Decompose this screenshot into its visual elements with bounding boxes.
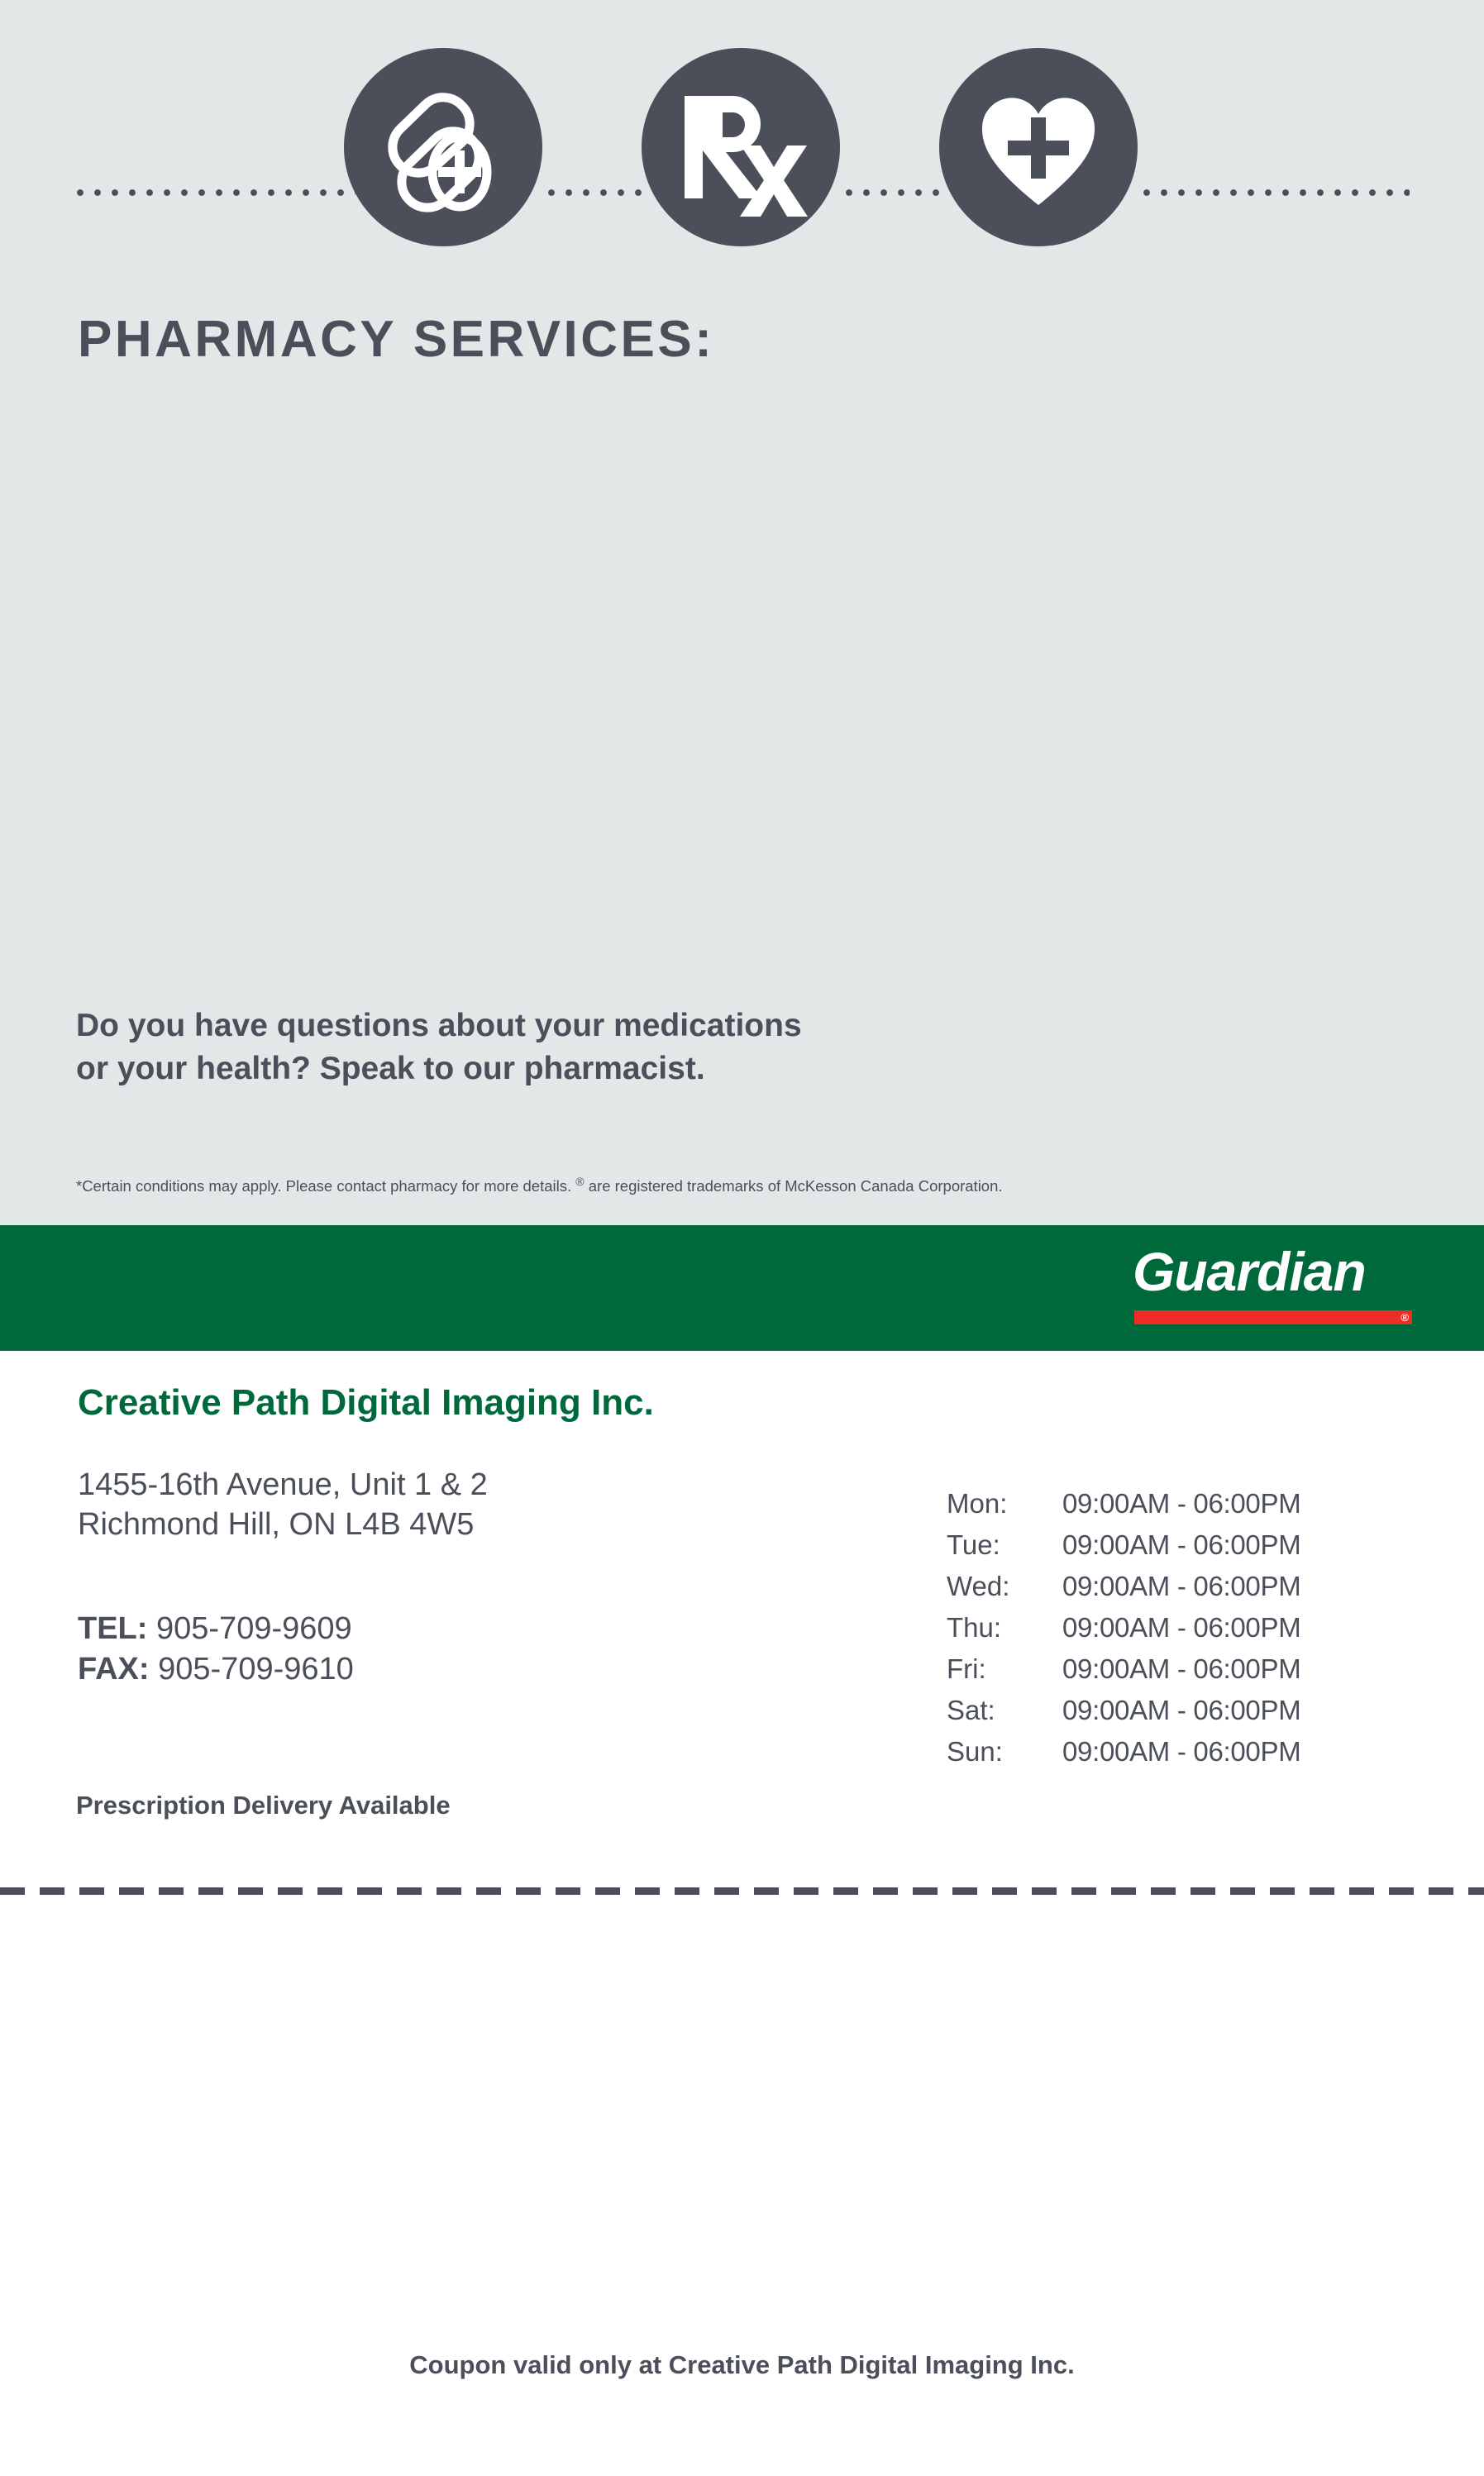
dotted-connector-3: [843, 187, 947, 198]
hours-day: Thu:: [947, 1612, 1062, 1653]
pharmacy-services-panel: PHARMACY SERVICES: Do you have questions…: [0, 0, 1484, 1225]
address-line-2: Richmond Hill, ON L4B 4W5: [78, 1505, 488, 1544]
hours-day: Sat:: [947, 1695, 1062, 1736]
disclaimer-text: *Certain conditions may apply. Please co…: [76, 1175, 1003, 1195]
telephone-value[interactable]: 905-709-9609: [156, 1611, 352, 1646]
dotted-connector-1: [74, 187, 355, 198]
hours-day: Tue:: [947, 1529, 1062, 1571]
table-row: Sat: 09:00AM - 06:00PM: [947, 1695, 1300, 1736]
hours-time: 09:00AM - 06:00PM: [1062, 1695, 1300, 1736]
table-row: Sun: 09:00AM - 06:00PM: [947, 1736, 1300, 1777]
hours-time: 09:00AM - 06:00PM: [1062, 1736, 1300, 1777]
hours-day: Sun:: [947, 1736, 1062, 1777]
store-hours-table: Mon: 09:00AM - 06:00PM Tue: 09:00AM - 06…: [947, 1488, 1300, 1777]
heart-plus-icon: [939, 48, 1138, 246]
hours-time: 09:00AM - 06:00PM: [1062, 1529, 1300, 1571]
question-line-2: or your health? Speak to our pharmacist.: [76, 1047, 802, 1090]
delivery-note: Prescription Delivery Available: [76, 1791, 451, 1820]
store-contact: TEL: 905-709-9609 FAX: 905-709-9610: [78, 1609, 354, 1691]
pills-plus-icon: [344, 48, 542, 246]
dotted-connector-2: [546, 187, 649, 198]
disclaimer-after: are registered trademarks of McKesson Ca…: [589, 1177, 1003, 1195]
rx-icon: [642, 48, 840, 246]
coupon-cut-line: [0, 1887, 1484, 1895]
fax-value[interactable]: 905-709-9610: [158, 1652, 354, 1686]
fax-row: FAX: 905-709-9610: [78, 1649, 354, 1690]
guardian-wordmark: Guardian: [1133, 1240, 1414, 1303]
table-row: Tue: 09:00AM - 06:00PM: [947, 1529, 1300, 1571]
fax-label: FAX:: [78, 1652, 150, 1686]
table-row: Thu: 09:00AM - 06:00PM: [947, 1612, 1300, 1653]
store-name: Creative Path Digital Imaging Inc.: [78, 1382, 654, 1424]
icon-strip: [0, 40, 1484, 246]
store-address: 1455-16th Avenue, Unit 1 & 2 Richmond Hi…: [78, 1465, 488, 1545]
registered-mark-icon: ®: [575, 1175, 584, 1188]
table-row: Mon: 09:00AM - 06:00PM: [947, 1488, 1300, 1529]
page-title: PHARMACY SERVICES:: [78, 310, 714, 369]
hours-time: 09:00AM - 06:00PM: [1062, 1571, 1300, 1612]
flyer-page: PHARMACY SERVICES: Do you have questions…: [0, 0, 1484, 2476]
guardian-red-rule: [1134, 1310, 1412, 1324]
pharmacist-question: Do you have questions about your medicat…: [76, 1004, 802, 1090]
question-line-1: Do you have questions about your medicat…: [76, 1004, 802, 1047]
hours-time: 09:00AM - 06:00PM: [1062, 1612, 1300, 1653]
hours-day: Wed:: [947, 1571, 1062, 1612]
telephone-row: TEL: 905-709-9609: [78, 1609, 354, 1649]
telephone-label: TEL:: [78, 1611, 147, 1646]
table-row: Fri: 09:00AM - 06:00PM: [947, 1653, 1300, 1695]
hours-day: Mon:: [947, 1488, 1062, 1529]
coupon-validity-note: Coupon valid only at Creative Path Digit…: [0, 2350, 1484, 2380]
guardian-registered-icon: ®: [1400, 1311, 1409, 1324]
hours-time: 09:00AM - 06:00PM: [1062, 1488, 1300, 1529]
address-line-1: 1455-16th Avenue, Unit 1 & 2: [78, 1465, 488, 1505]
brand-band: Guardian ®: [0, 1225, 1484, 1351]
hours-time: 09:00AM - 06:00PM: [1062, 1653, 1300, 1695]
hours-day: Fri:: [947, 1653, 1062, 1695]
guardian-logo: Guardian ®: [1133, 1240, 1414, 1338]
table-row: Wed: 09:00AM - 06:00PM: [947, 1571, 1300, 1612]
dotted-connector-4: [1141, 187, 1410, 198]
disclaimer-before: *Certain conditions may apply. Please co…: [76, 1177, 571, 1195]
